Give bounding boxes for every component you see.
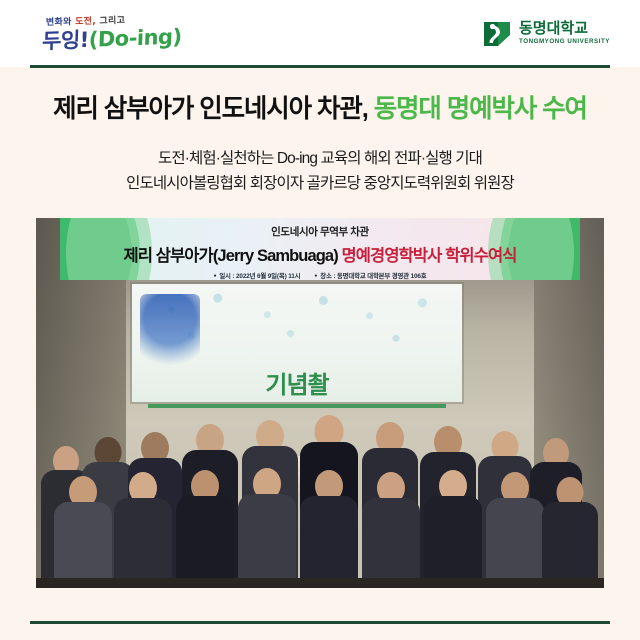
event-banner: 인도네시아 무역부 차관 제리 삼부아가(Jerry Sambuaga) 명예경… <box>60 218 580 280</box>
person-body <box>114 498 172 588</box>
person-front-7 <box>424 470 482 588</box>
divider-bottom <box>30 621 610 624</box>
person-front-9 <box>542 476 598 588</box>
headline-black-segment: 제리 삼부아가 인도네시아 차관, <box>53 95 374 123</box>
brand-tagline: 변화와 도전, 그리고 <box>46 16 125 27</box>
banner-meta-location: 장소 : 동명대학교 대학본부 경영관 106호 <box>314 271 426 280</box>
brand-wordmark: 두잉!(Do-ing) <box>42 26 182 52</box>
divider-top <box>30 65 610 68</box>
brand-tagline-part3: 그리고 <box>99 15 125 26</box>
banner-meta-datetime: 일시 : 2022년 6월 9일(목) 11시 <box>213 271 300 280</box>
person-body <box>54 502 112 588</box>
person-body <box>238 494 296 588</box>
brand-tagline-part2: 도전, <box>75 16 100 27</box>
university-logo-text: 동명대학교 TONGMYONG UNIVERSITY <box>519 21 610 45</box>
university-name-ko: 동명대학교 <box>519 21 610 36</box>
university-name-en: TONGMYONG UNIVERSITY <box>519 39 610 45</box>
subtitle-line-2: 인도네시아볼링협회 회장이자 골카르당 중앙지도력위원회 위원장 <box>0 171 640 196</box>
person-body <box>300 496 358 588</box>
page-header: 변화와 도전, 그리고 두잉!(Do-ing) 동명대학교 TONGMYONG … <box>0 0 640 67</box>
banner-supertitle: 인도네시아 무역부 차관 <box>60 224 580 239</box>
person-body <box>176 496 234 588</box>
banner-title-name: 제리 삼부아가(Jerry Sambuaga) <box>123 247 341 265</box>
event-banner-text: 인도네시아 무역부 차관 제리 삼부아가(Jerry Sambuaga) 명예경… <box>60 218 580 280</box>
person-front-3 <box>176 470 234 588</box>
photo-floor <box>36 578 604 588</box>
person-front-2 <box>114 472 172 588</box>
brand-wordmark-ko: 두잉! <box>42 27 90 53</box>
banner-title-degree: 명예경영학박사 학위수여식 <box>342 247 517 265</box>
subtitle-line-1: 도전·체험·실천하는 Do-ing 교육의 해외 전파·실행 기대 <box>0 146 640 171</box>
doing-brand-logo[interactable]: 변화와 도전, 그리고 두잉!(Do-ing) <box>42 18 182 50</box>
person-front-1 <box>54 476 112 588</box>
banner-meta-row: 일시 : 2022년 6월 9일(목) 11시 장소 : 동명대학교 대학본부 … <box>60 271 580 280</box>
card-root: 변화와 도전, 그리고 두잉!(Do-ing) 동명대학교 TONGMYONG … <box>0 0 640 640</box>
headline-green-segment: 동명대 명예박사 수여 <box>374 95 587 123</box>
person-front-8 <box>486 472 544 588</box>
person-front-4 <box>238 468 296 588</box>
brand-tagline-part1: 변화와 <box>46 17 75 28</box>
subtitle-block: 도전·체험·실천하는 Do-ing 교육의 해외 전파·실행 기대 인도네시아볼… <box>0 146 640 196</box>
person-body <box>362 498 420 588</box>
banner-title: 제리 삼부아가(Jerry Sambuaga) 명예경영학박사 학위수여식 <box>60 242 580 266</box>
person-body <box>542 502 598 588</box>
tongmyong-emblem-icon <box>482 19 512 49</box>
ceremony-photo[interactable]: 인도네시아 무역부 차관 제리 삼부아가(Jerry Sambuaga) 명예경… <box>36 218 604 588</box>
person-body <box>424 496 482 588</box>
university-logo[interactable]: 동명대학교 TONGMYONG UNIVERSITY <box>482 19 610 49</box>
page-title: 제리 삼부아가 인도네시아 차관, 동명대 명예박사 수여 <box>0 88 640 125</box>
person-front-6 <box>362 472 420 588</box>
brand-wordmark-en: (Do-ing) <box>88 24 182 51</box>
person-body <box>486 498 544 588</box>
person-front-5 <box>300 470 358 588</box>
